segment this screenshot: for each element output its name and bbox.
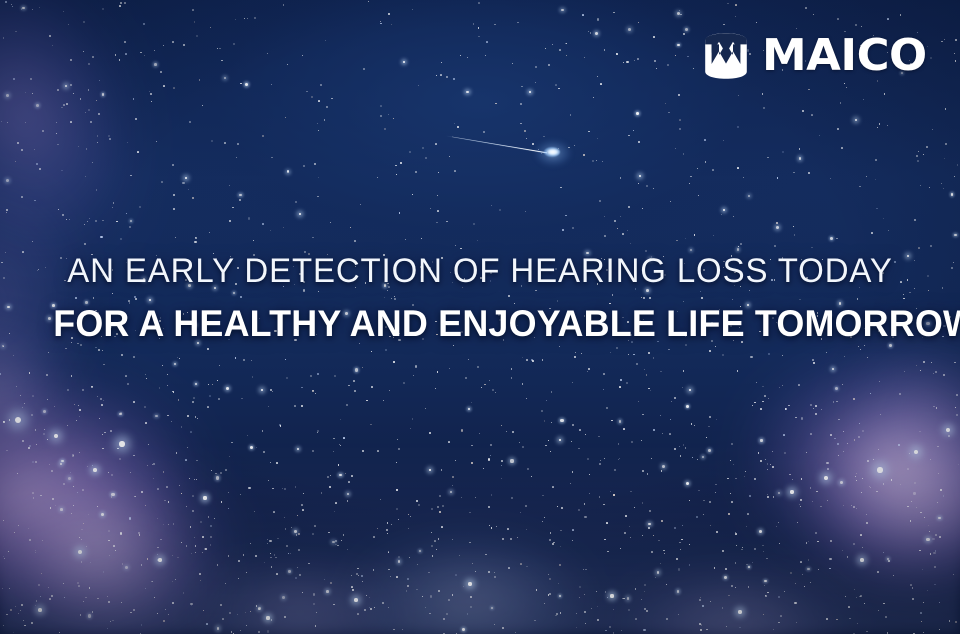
maico-logo[interactable]: MAICO	[702, 30, 923, 82]
poster-canvas: MAICO AN EARLY DETECTION OF HEARING LOSS…	[0, 0, 960, 634]
maico-wordmark: MAICO	[762, 34, 927, 78]
headline-line-2: FOR A HEALTHY AND ENJOYABLE LIFE TOMORRO…	[53, 303, 907, 346]
bottom-haze-band	[0, 444, 960, 634]
maico-m-barrel-mark-icon	[702, 31, 750, 81]
headline-block: AN EARLY DETECTION OF HEARING LOSS TODAY…	[0, 252, 960, 346]
headline-line-1: AN EARLY DETECTION OF HEARING LOSS TODAY	[53, 252, 907, 291]
